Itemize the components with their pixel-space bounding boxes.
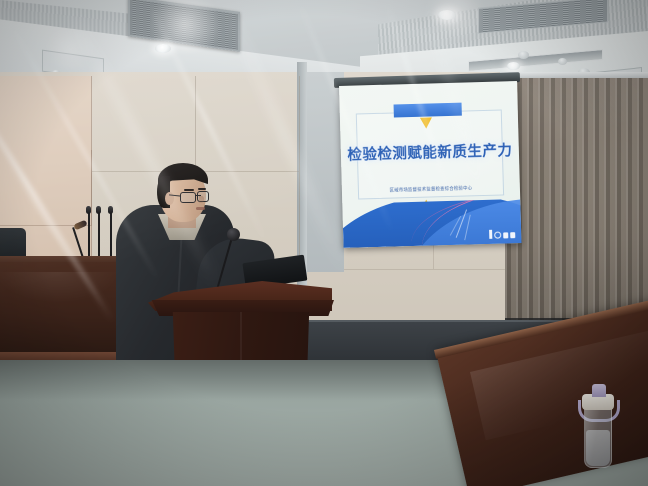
eyeglasses-lens-left (180, 192, 196, 203)
slide-banner-top (394, 103, 462, 118)
recessed-downlight-2 (438, 10, 456, 20)
logo-mark-3 (503, 232, 508, 238)
water-bottle-lid (592, 384, 606, 397)
water-bottle-contents (586, 430, 610, 466)
photo-scene: 检验检测赋能新质生产力 区域市场监督技术监督检查综合检验中心 (0, 0, 648, 486)
gooseneck-microphone-head (227, 228, 240, 241)
speaker-mouth (196, 207, 205, 210)
speaker-nose (199, 196, 204, 203)
triangle-down-icon (420, 117, 432, 128)
projection-screen: 检验检测赋能新质生产力 区域市场监督技术监督检查综合检验中心 (339, 81, 521, 248)
head-table-mic-head-2 (96, 206, 101, 214)
logo-mark-4 (510, 232, 515, 238)
ceiling-dome-1 (518, 51, 529, 59)
speaker-brow-left (184, 189, 194, 191)
head-table-mic-stand-3 (110, 212, 112, 258)
head-table-highlight (0, 272, 120, 316)
speaker-brow-right (198, 188, 206, 190)
head-table-mic-stand-1 (88, 212, 90, 258)
wall-panel-i (0, 150, 92, 226)
head-table-mic-head-3 (108, 206, 113, 214)
slide-logo (489, 229, 515, 239)
head-table-mic-stand-2 (98, 212, 100, 258)
recessed-downlight-3 (507, 62, 520, 70)
wall-panel-a (92, 76, 196, 172)
recessed-downlight-1 (155, 44, 171, 53)
slide-footer-graphic (342, 199, 521, 248)
wall-panel-b (196, 76, 300, 172)
logo-mark-1 (489, 230, 492, 239)
logo-mark-2 (494, 232, 501, 239)
ceiling-dome-2 (558, 58, 567, 65)
head-table-mic-head-1 (86, 206, 91, 214)
